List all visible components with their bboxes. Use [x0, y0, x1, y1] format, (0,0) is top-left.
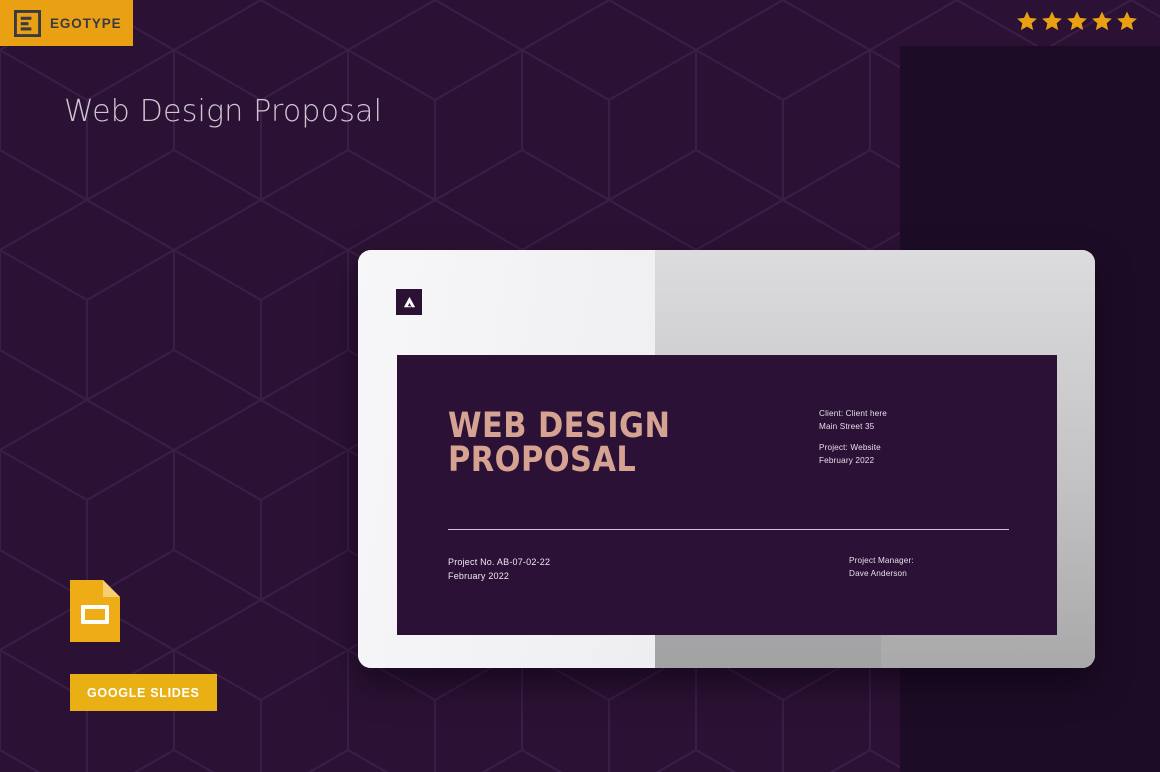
project-line-1: Project: Website	[819, 442, 1009, 455]
slide-preview-card[interactable]: WEB DESIGN PROPOSAL Client: Client here …	[358, 250, 1095, 668]
project-date: February 2022	[448, 569, 550, 583]
google-slides-file-icon[interactable]	[70, 580, 120, 642]
slide-client-meta: Client: Client here Main Street 35 Proje…	[819, 408, 1009, 468]
slide-headline: WEB DESIGN PROPOSAL	[448, 410, 670, 477]
slide-footer-right: Project Manager: Dave Anderson	[849, 554, 1009, 580]
client-line-2: Main Street 35	[819, 421, 1009, 434]
star-icon	[1016, 10, 1038, 32]
preview-stage: EGOTYPE Web Design Proposal GOOGLE SLIDE…	[0, 0, 1160, 772]
slide-footer-left: Project No. AB-07-02-22 February 2022	[448, 555, 550, 584]
client-line-1: Client: Client here	[819, 408, 1009, 421]
project-line-2: February 2022	[819, 455, 1009, 468]
manager-label: Project Manager:	[849, 554, 1009, 567]
star-icon	[1091, 10, 1113, 32]
slide-divider	[448, 529, 1009, 530]
egotype-e-mark-icon	[14, 10, 41, 37]
star-icon	[1116, 10, 1138, 32]
manager-name: Dave Anderson	[849, 567, 1009, 580]
project-number: Project No. AB-07-02-22	[448, 555, 550, 569]
slide-content-panel: WEB DESIGN PROPOSAL Client: Client here …	[397, 355, 1057, 635]
star-rating	[1016, 10, 1138, 32]
slide-logo-chip	[396, 289, 422, 315]
brand-badge[interactable]: EGOTYPE	[0, 0, 133, 46]
mountain-mark-icon	[402, 295, 417, 310]
star-icon	[1041, 10, 1063, 32]
brand-name: EGOTYPE	[50, 16, 122, 31]
star-icon	[1066, 10, 1088, 32]
google-slides-download-button[interactable]: GOOGLE SLIDES	[70, 674, 217, 711]
page-title: Web Design Proposal	[64, 94, 382, 129]
meta-spacer	[819, 433, 1009, 442]
